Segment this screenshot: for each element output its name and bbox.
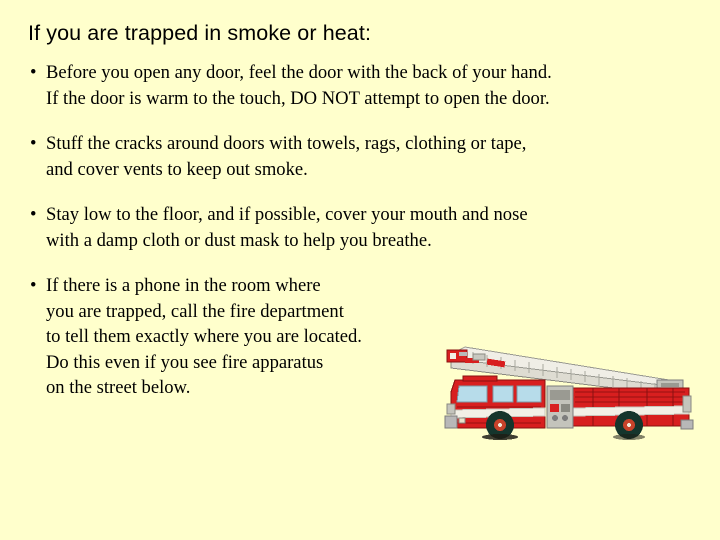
bullet-line: to tell them exactly where you are locat… bbox=[46, 324, 466, 350]
bullet-before-you-open-any-door: • Before you open any door, feel the doo… bbox=[28, 60, 698, 111]
bullet-line: Do this even if you see fire apparatus bbox=[46, 350, 466, 376]
bullet-point-icon: • bbox=[30, 60, 37, 86]
bullet-point-icon: • bbox=[30, 202, 37, 228]
bullet-line: If there is a phone in the room where bbox=[46, 273, 466, 299]
fire-truck-image bbox=[443, 336, 695, 440]
bullet-point-icon: • bbox=[30, 131, 37, 157]
bullet-point-icon: • bbox=[30, 273, 37, 299]
bullet-line: Stay low to the floor, and if possible, … bbox=[46, 202, 698, 228]
bullet-line: with a damp cloth or dust mask to help y… bbox=[46, 228, 698, 254]
bullet-if-there-is-a-phone: • If there is a phone in the room where … bbox=[28, 273, 466, 401]
bullet-line: you are trapped, call the fire departmen… bbox=[46, 299, 466, 325]
bullet-line: Stuff the cracks around doors with towel… bbox=[46, 131, 698, 157]
bullet-stuff-the-cracks: • Stuff the cracks around doors with tow… bbox=[28, 131, 698, 182]
slide-canvas: If you are trapped in smoke or heat: • B… bbox=[0, 0, 720, 540]
headlight-icon bbox=[459, 418, 465, 423]
windshield-glass bbox=[457, 386, 487, 402]
bullet-line: If the door is warm to the touch, DO NOT… bbox=[46, 86, 698, 112]
bullet-line: Before you open any door, feel the door … bbox=[46, 60, 698, 86]
pump-panel bbox=[547, 386, 573, 428]
light-bar-icon bbox=[463, 376, 497, 381]
bullet-line: and cover vents to keep out smoke. bbox=[46, 157, 698, 183]
fire-truck-illustration bbox=[443, 336, 695, 440]
bullet-stay-low-to-the-floor: • Stay low to the floor, and if possible… bbox=[28, 202, 698, 253]
page-title: If you are trapped in smoke or heat: bbox=[28, 21, 688, 46]
bullet-line: on the street below. bbox=[46, 375, 466, 401]
